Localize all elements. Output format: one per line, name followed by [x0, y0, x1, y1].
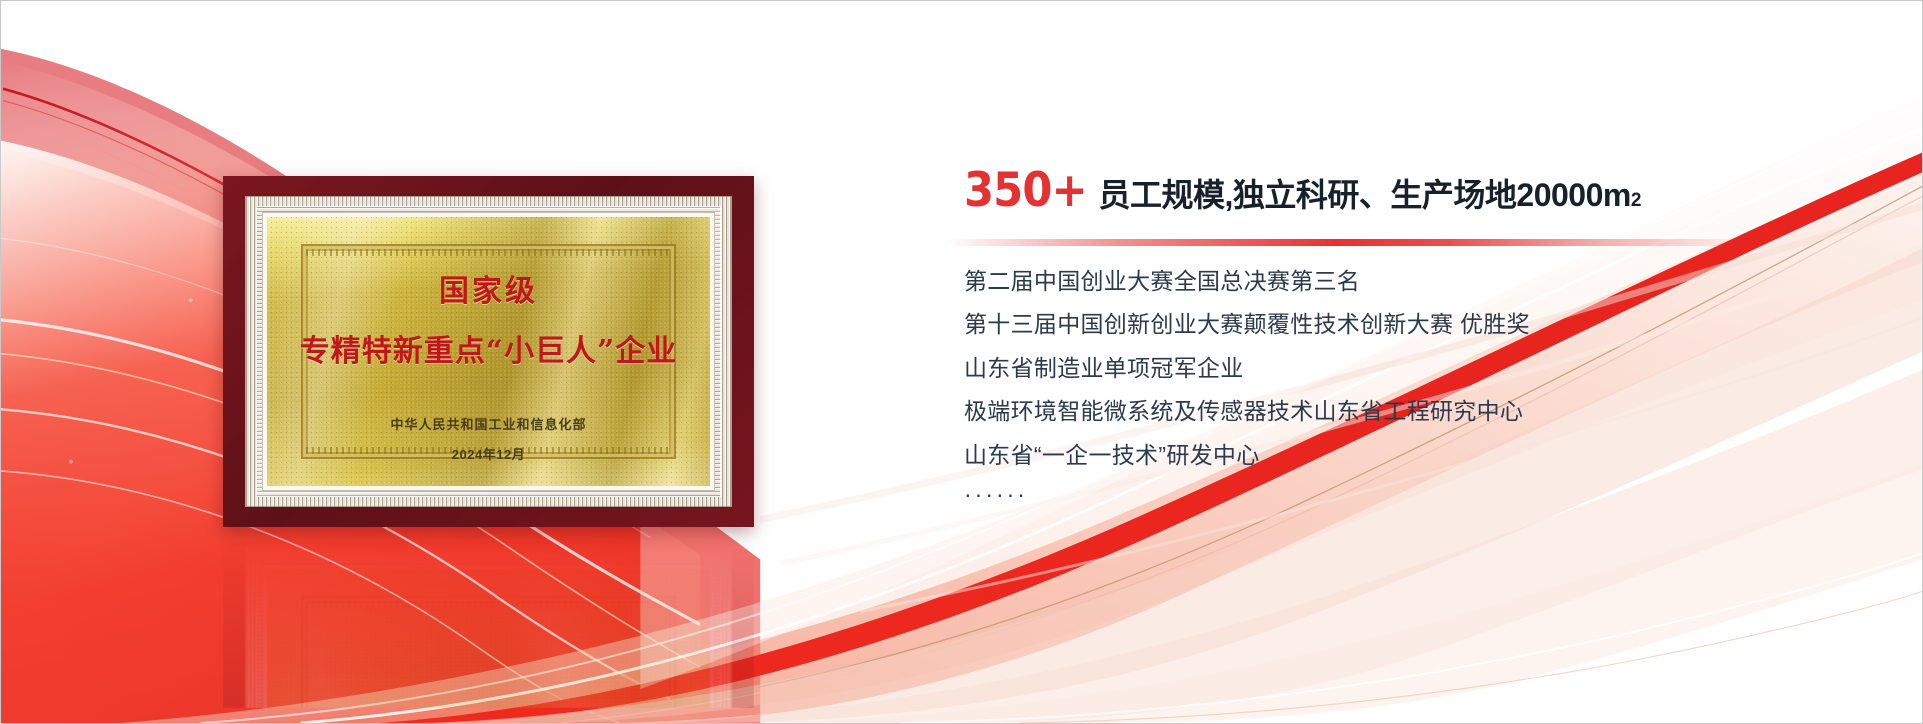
headline: 350+ 员工规模,独立科研、生产场地20000m 2	[964, 167, 1824, 214]
plaque-issuer: 中华人民共和国工业和信息化部	[390, 414, 586, 433]
headline-text: 员工规模,独立科研、生产场地20000m	[1099, 179, 1631, 211]
content-column: 350+ 员工规模,独立科研、生产场地20000m 2 第二届中国创业大赛全国总…	[964, 167, 1824, 527]
award-plaque: 国家级 专精特新重点“小巨人”企业 中华人民共和国工业和信息化部 2024年12…	[223, 176, 754, 527]
plaque-ornate-band-inner: 国家级 专精特新重点“小巨人”企业 中华人民共和国工业和信息化部 2024年12…	[256, 206, 721, 497]
plaque-date: 2024年12月	[452, 444, 525, 463]
list-item: 山东省“一企一技术”研发中心	[964, 444, 1824, 467]
honors-list: 第二届中国创业大赛全国总决赛第三名 第十三届中国创新创业大赛颠覆性技术创新大赛 …	[964, 270, 1824, 507]
headline-underline-rule	[946, 239, 1761, 246]
plaque-white-liner: 国家级 专精特新重点“小巨人”企业 中华人民共和国工业和信息化部 2024年12…	[262, 212, 715, 491]
honors-banner: 国家级 专精特新重点“小巨人”企业 中华人民共和国工业和信息化部 2024年12…	[0, 0, 1923, 724]
plaque-ornate-band-outer: 国家级 专精特新重点“小巨人”企业 中华人民共和国工业和信息化部 2024年12…	[245, 196, 732, 507]
plaque-inscription: 国家级 专精特新重点“小巨人”企业 中华人民共和国工业和信息化部 2024年12…	[267, 217, 710, 486]
headline-superscript: 2	[1631, 191, 1642, 210]
list-item: 第十三届中国创新创业大赛颠覆性技术创新大赛 优胜奖	[964, 313, 1824, 336]
plaque-title-line1: 国家级	[439, 266, 538, 310]
list-item: 第二届中国创业大赛全国总决赛第三名	[964, 270, 1824, 293]
list-item-ellipsis: ······	[964, 483, 1824, 506]
list-item: 山东省制造业单项冠军企业	[964, 357, 1824, 380]
plaque-title-line2: 专精特新重点“小巨人”企业	[300, 326, 678, 370]
list-item: 极端环境智能微系统及传感器技术山东省工程研究中心	[964, 400, 1824, 423]
plaque-outer-frame: 国家级 专精特新重点“小巨人”企业 中华人民共和国工业和信息化部 2024年12…	[223, 176, 754, 527]
plaque-reflection	[223, 528, 754, 708]
headline-number: 350+	[964, 167, 1087, 214]
plaque-gold-plate: 国家级 专精特新重点“小巨人”企业 中华人民共和国工业和信息化部 2024年12…	[267, 217, 710, 486]
